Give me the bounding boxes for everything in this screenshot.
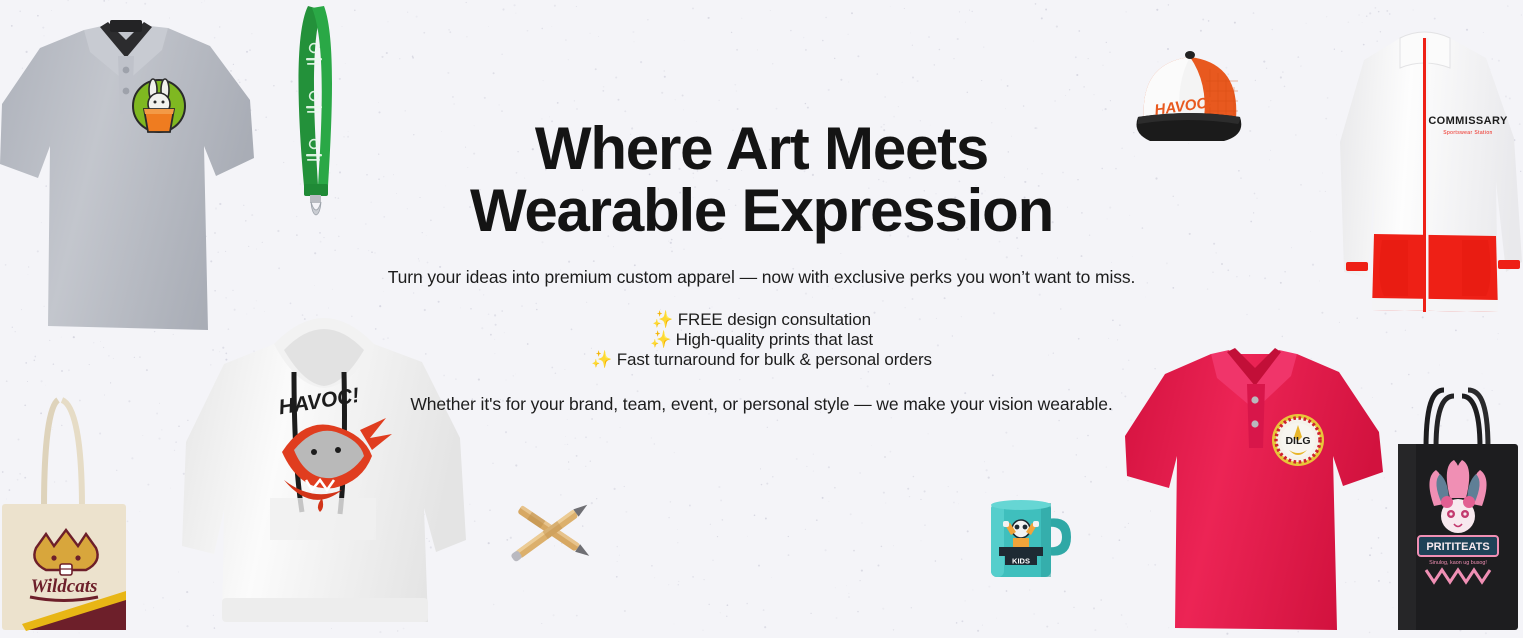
product-cream-tote-bag: Wildcats	[0, 386, 136, 638]
tote-print-subtext: Sinulog, kaon ug busog!	[1429, 560, 1487, 566]
perk-label: High-quality prints that last	[676, 330, 873, 349]
hero-copy: Where Art Meets Wearable Expression Turn…	[0, 118, 1523, 415]
perks-list: ✨ FREE design consultation ✨ High-qualit…	[0, 310, 1523, 370]
page-title: Where Art Meets Wearable Expression	[0, 118, 1523, 243]
perk-item: ✨ Fast turnaround for bulk & personal or…	[0, 350, 1523, 370]
sparkle-icon: ✨	[650, 330, 671, 349]
perk-label: FREE design consultation	[678, 310, 871, 329]
perk-item: ✨ High-quality prints that last	[0, 330, 1523, 350]
perk-item: ✨ FREE design consultation	[0, 310, 1523, 330]
svg-text:Wildcats: Wildcats	[31, 576, 98, 597]
product-black-tote-bag: PRITITEATS Sinulog, kaon ug busog!	[1392, 388, 1523, 636]
dilg-seal-badge: DILG	[1272, 414, 1324, 466]
perk-label: Fast turnaround for bulk & personal orde…	[617, 350, 932, 369]
headline-line-1: Where Art Meets	[535, 115, 988, 182]
headline-line-2: Wearable Expression	[0, 180, 1523, 242]
sparkle-icon: ✨	[591, 350, 612, 369]
svg-text:KIDS: KIDS	[1012, 557, 1030, 566]
product-bamboo-pens	[495, 485, 605, 575]
product-teal-mug: KIDS	[975, 495, 1085, 583]
sparkle-icon: ✨	[652, 310, 673, 329]
wildcats-logo: Wildcats	[30, 530, 98, 601]
polo-print-text: DILG	[1285, 435, 1310, 447]
hero-closing-line: Whether it's for your brand, team, event…	[0, 394, 1523, 415]
tote-print-text: PRITITEATS	[1426, 541, 1489, 553]
hero-subheadline: Turn your ideas into premium custom appa…	[0, 267, 1523, 288]
